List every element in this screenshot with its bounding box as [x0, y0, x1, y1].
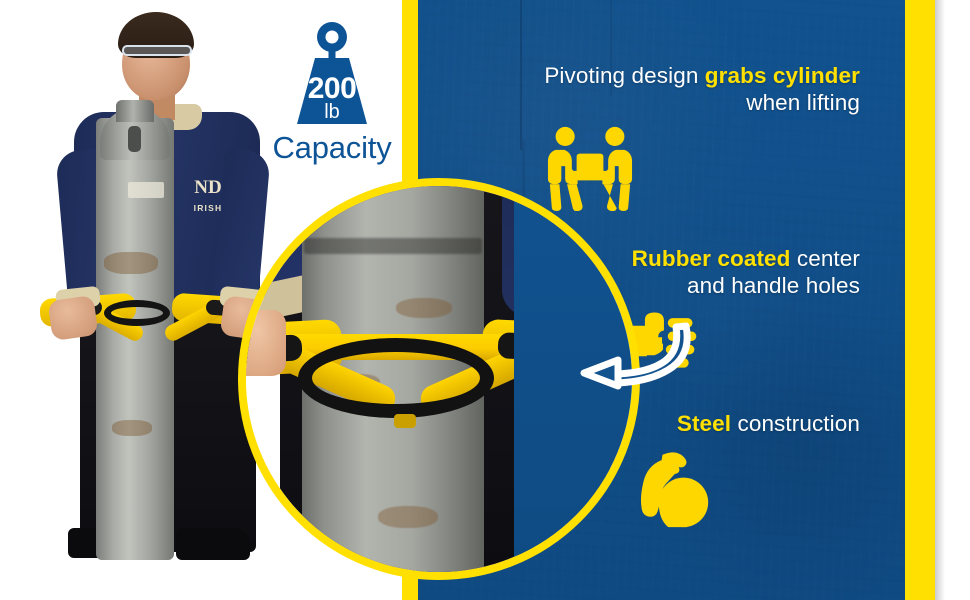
cylinder-rust-mark — [104, 252, 158, 274]
left-hand — [47, 295, 98, 341]
cylinder-label — [128, 182, 164, 198]
cylinder-valve — [128, 126, 141, 152]
cylinder-rust-mark — [112, 420, 152, 436]
jacket-logo-monogram: ND — [194, 177, 221, 198]
feature-1-line1-normal: Pivoting design — [544, 63, 704, 88]
feature-2-line1-bold: Rubber coated — [632, 246, 791, 271]
closeup-left-hand — [238, 310, 286, 376]
panel-drop-shadow — [935, 0, 945, 600]
capacity-label: Capacity — [272, 132, 392, 163]
closeup-cylinder-rust — [396, 298, 452, 318]
curved-arrow-icon — [568, 312, 698, 404]
lifter-rubber-collar — [104, 300, 170, 326]
product-infographic: ND IRISH — [0, 0, 970, 600]
right-shoe — [176, 528, 250, 560]
right-accent-bar — [905, 0, 935, 600]
capacity-unit: lb — [272, 101, 392, 124]
weight-icon: 200 lb — [272, 20, 392, 130]
jacket-logo: ND IRISH — [185, 178, 231, 212]
safety-glasses-icon — [122, 45, 192, 56]
feature-2-line1-normal: center — [791, 246, 861, 271]
closeup-cylinder-band — [304, 238, 482, 254]
jacket-logo-subtext: IRISH — [185, 198, 231, 218]
curved-arrow-icon-shape — [568, 312, 698, 404]
feature-3-normal: construction — [731, 411, 860, 436]
feature-3-bold: Steel — [677, 411, 731, 436]
capacity-badge: 200 lb Capacity — [272, 20, 392, 163]
feature-1-line1-bold: grabs cylinder — [705, 63, 860, 88]
feature-1-line2: when lifting — [746, 90, 860, 115]
flexing-muscle-icon-shape — [634, 449, 712, 531]
cylinder-neck — [116, 100, 154, 122]
closeup-rubber-coated-center — [298, 338, 494, 418]
feature-2-line2: and handle holes — [687, 273, 860, 298]
closeup-cylinder-rust — [378, 506, 438, 528]
closeup-pivot-joint — [394, 414, 416, 428]
feature-pivoting-design-text: Pivoting design grabs cylinder when lift… — [460, 62, 860, 117]
